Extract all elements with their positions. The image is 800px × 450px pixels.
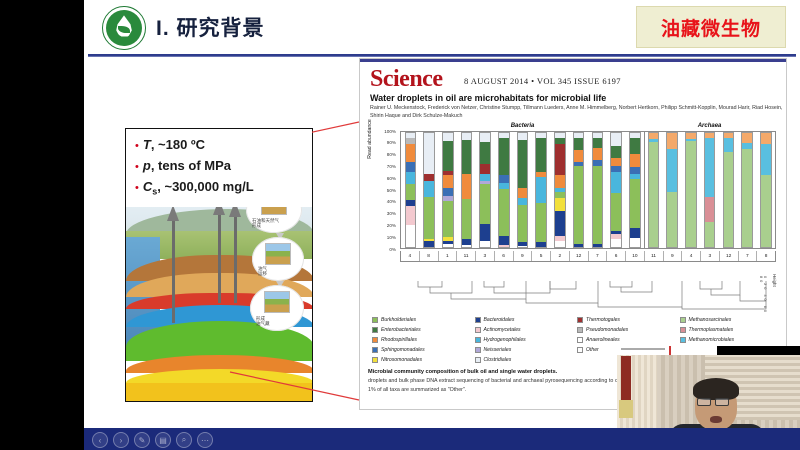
bar-segment: [742, 133, 752, 143]
legend-label: Anaerolineales: [586, 337, 620, 343]
bar-segment: [667, 149, 677, 192]
bar-segment: [649, 142, 659, 247]
next-slide-button[interactable]: ›: [113, 432, 129, 448]
y-tick-label: 100%: [374, 129, 396, 134]
process-bubble-accumulation: 形成油气藏: [250, 285, 304, 331]
legend-label: Thermotogales: [586, 317, 620, 323]
legend-swatch: [475, 347, 481, 353]
bar-segment: [536, 138, 546, 172]
bar-segment: [705, 197, 715, 222]
legend-swatch: [577, 347, 583, 353]
bar-segment: [443, 141, 453, 171]
dendrogram-svg: [400, 277, 796, 311]
legend-label: Enterobacteriales: [381, 327, 421, 333]
bar-segment: [406, 184, 416, 200]
bar-segment: [443, 175, 453, 188]
bar-column: [700, 132, 719, 248]
legend-label: Thermoplasmatales: [689, 327, 734, 333]
bar-segment: [593, 138, 603, 148]
bar-segment: [724, 138, 734, 153]
reservoir-figure-panel: • T, ~180 ºC • p, tens of MPa • Cs, ~300…: [125, 128, 313, 402]
bar-segment: [518, 133, 528, 140]
bar-segment: [518, 205, 528, 243]
bar-segment: [630, 179, 640, 228]
x-tick-label: 8: [420, 251, 439, 261]
legend-item: Bacteroidales: [475, 315, 574, 325]
bar-column: [438, 132, 457, 248]
letterbox-left: [0, 0, 84, 450]
legend-label: Bacteroidales: [484, 317, 515, 323]
bar-column: [420, 132, 439, 248]
bar-segment: [574, 138, 584, 151]
x-tick-label: 3: [476, 251, 495, 261]
paper-authors: Rainer U. Meckenstock, Frederick von Net…: [370, 105, 784, 121]
bullet-dot-icon: •: [135, 162, 139, 173]
y-tick-label: 30%: [374, 211, 396, 216]
y-tick-label: 40%: [374, 199, 396, 204]
bar-segment: [630, 167, 640, 174]
bar-column: [644, 132, 663, 248]
bar-column: [495, 132, 514, 248]
y-tick-label: 10%: [374, 235, 396, 240]
bar-segment: [630, 138, 640, 154]
x-tick-label: 3: [701, 251, 720, 261]
x-tick-label: 12: [570, 251, 589, 261]
bar-segment: [406, 225, 416, 247]
bar-segment: [574, 150, 584, 161]
bar-segment: [536, 242, 546, 247]
bar-segment: [761, 133, 771, 144]
bar-segment: [406, 172, 416, 185]
geology-cross-section-image: 石油和天然气形成 油气运移 形成油气藏: [126, 185, 313, 402]
bar-segment: [406, 206, 416, 225]
x-tick-label: 6: [495, 251, 514, 261]
paper-title: Water droplets in oil are microhabitats …: [370, 93, 780, 103]
bar-segment: [480, 174, 490, 181]
legend-label: Clostridiales: [484, 357, 512, 363]
slide-menu-button[interactable]: ▤: [155, 432, 171, 448]
bar-segment: [705, 138, 715, 197]
science-logo: Science: [370, 66, 442, 93]
bar-segment: [593, 244, 603, 247]
x-tick-label: 6: [607, 251, 626, 261]
legend-swatch: [577, 337, 583, 343]
bar-segment: [555, 198, 565, 211]
paper-top-rule: [360, 59, 786, 62]
bar-segment: [574, 166, 584, 244]
x-tick-label: 9: [664, 251, 683, 261]
legend-item: Enterobacteriales: [372, 325, 471, 335]
list-item: • Cs, ~300,000 mg/L: [135, 179, 308, 197]
legend-label: Sphingomonadales: [381, 347, 425, 353]
bar-segment: [480, 241, 490, 247]
legend-item: Clostridiales: [475, 355, 574, 365]
x-tick-label: 11: [645, 251, 664, 261]
institute-logo-icon: [102, 6, 146, 50]
bar-column: [457, 132, 476, 248]
bar-segment: [518, 140, 528, 188]
issue-line: 8 AUGUST 2014 • VOL 345 ISSUE 6197: [464, 76, 621, 86]
legend-item: Nitrosomonadales: [372, 355, 471, 365]
legend-item: Neisseriales: [475, 345, 574, 355]
legend-label: Rhodospirillales: [381, 337, 417, 343]
community-composition-chart: Read abundance 0%10%20%30%40%50%60%70%80…: [368, 125, 780, 275]
legend-swatch: [372, 347, 378, 353]
topic-badge: 油藏微生物: [636, 6, 786, 48]
legend-swatch: [475, 357, 481, 363]
bar-segment: [630, 154, 640, 168]
bar-segment: [593, 148, 603, 161]
legend-swatch: [577, 327, 583, 333]
x-tick-label: 7: [589, 251, 608, 261]
x-tick-label: 1: [439, 251, 458, 261]
legend-swatch: [475, 337, 481, 343]
bar-segment: [611, 239, 621, 247]
x-tick-label: 8: [757, 251, 775, 261]
bar-segment: [499, 245, 509, 247]
bar-segment: [424, 133, 434, 174]
bar-segment: [480, 224, 490, 241]
x-tick-label: 11: [457, 251, 476, 261]
stacked-bars: [401, 132, 775, 248]
legend-label: Methanomicrobiales: [689, 337, 735, 343]
bar-segment: [424, 197, 434, 239]
condition-bullet-list: • T, ~180 ºC • p, tens of MPa • Cs, ~300…: [126, 129, 313, 207]
bar-segment: [443, 133, 453, 141]
slide-header: I. 研究背景 油藏微生物: [84, 0, 800, 56]
bar-segment: [555, 211, 565, 236]
legend-swatch: [475, 327, 481, 333]
legend-swatch: [680, 317, 686, 323]
legend-label: Burkholderiales: [381, 317, 416, 323]
bar-segment: [686, 141, 696, 247]
bar-segment: [462, 140, 472, 174]
legend-label: Actinomycetales: [484, 327, 521, 333]
legend-item: Sphingomonadales: [372, 345, 471, 355]
list-item: • p, tens of MPa: [135, 158, 308, 173]
legend-label: Nitrosomonadales: [381, 357, 422, 363]
bar-segment: [536, 177, 546, 202]
bar-segment: [593, 166, 603, 244]
height-ticks: 0 20 40 60 80: [759, 276, 767, 314]
legend-swatch: [475, 317, 481, 323]
header-divider: [88, 54, 796, 57]
process-bubble-migration: 油气运移: [252, 237, 304, 281]
bar-segment: [555, 241, 565, 247]
legend-item: Methanosarcinales: [680, 315, 779, 325]
bar-segment: [499, 236, 509, 245]
y-tick-label: 60%: [374, 176, 396, 181]
legend-item: Thermoplasmatales: [680, 325, 779, 335]
y-tick-label: 90%: [374, 140, 396, 145]
bar-segment: [499, 175, 509, 183]
legend-label: Hydrogenophilales: [484, 337, 526, 343]
bar-segment: [667, 133, 677, 149]
legend-swatch: [680, 327, 686, 333]
bar-column: [401, 132, 420, 248]
x-tick-label: 10: [626, 251, 645, 261]
bar-segment: [555, 138, 565, 145]
bar-segment: [462, 199, 472, 239]
bar-column: [476, 132, 495, 248]
bar-segment: [443, 244, 453, 247]
bar-segment: [443, 188, 453, 196]
pen-button[interactable]: ✎: [134, 432, 150, 448]
bar-segment: [761, 144, 771, 175]
bar-column: [682, 132, 701, 248]
bar-segment: [480, 184, 490, 224]
page-title: I. 研究背景: [156, 12, 265, 42]
bar-segment: [555, 144, 565, 175]
legend-item: Hydrogenophilales: [475, 335, 574, 345]
x-axis-labels: 4811136952127610119431278: [400, 251, 776, 262]
bar-segment: [480, 133, 490, 142]
screen: I. 研究背景 油藏微生物 • T, ~180 ºC • p, tens of …: [0, 0, 800, 450]
bar-segment: [574, 244, 584, 247]
legend-label: Methanosarcinales: [689, 317, 732, 323]
bar-segment: [724, 152, 734, 247]
bar-segment: [611, 146, 621, 159]
bar-segment: [667, 192, 677, 247]
bar-segment: [499, 138, 509, 176]
x-tick-label: 4: [401, 251, 420, 261]
x-tick-label: 4: [682, 251, 701, 261]
bar-segment: [611, 133, 621, 146]
legend-swatch: [372, 317, 378, 323]
bullet-dot-icon: •: [135, 183, 139, 194]
legend-label: Pseudomonadales: [586, 327, 628, 333]
bar-segment: [611, 158, 621, 166]
legend-swatch: [577, 317, 583, 323]
legend-item: Anaerolineales: [577, 335, 676, 345]
zoom-button[interactable]: ⌕: [176, 432, 192, 448]
bar-segment: [462, 133, 472, 140]
bar-column: [569, 132, 588, 248]
bar-column: [513, 132, 532, 248]
bar-segment: [406, 162, 416, 172]
bar-segment: [630, 238, 640, 247]
bar-column: [551, 132, 570, 248]
group-label-bacteria: Bacteria: [511, 123, 535, 129]
height-label: Height: [772, 274, 777, 287]
legend-item: Methanomicrobiales: [680, 335, 779, 345]
legend-swatch: [372, 337, 378, 343]
legend-swatch: [680, 337, 686, 343]
plot-area: Bacteria Archaea: [400, 131, 776, 249]
bar-column: [625, 132, 644, 248]
legend-label: Other: [586, 347, 599, 353]
bar-segment: [518, 198, 528, 205]
legend-swatch: [372, 357, 378, 363]
bar-segment: [462, 245, 472, 247]
bullet-text: T, ~180 ºC: [143, 137, 205, 152]
bar-segment: [518, 246, 528, 247]
group-label-archaea: Archaea: [698, 123, 722, 129]
bar-segment: [518, 188, 528, 198]
bar-column: [588, 132, 607, 248]
bullet-text: p, tens of MPa: [143, 158, 231, 173]
dendrogram: [400, 277, 796, 311]
bar-segment: [611, 193, 621, 231]
bar-segment: [630, 228, 640, 238]
list-item: • T, ~180 ºC: [135, 137, 308, 152]
legend-label: Neisseriales: [484, 347, 512, 353]
more-options-button[interactable]: ⋯: [197, 432, 213, 448]
presentation-controls: ‹›✎▤⌕⋯: [92, 432, 213, 448]
bar-segment: [424, 241, 434, 247]
height-scale: Height 0 20 40 60 80: [759, 274, 783, 314]
bar-column: [756, 132, 775, 248]
y-tick-label: 70%: [374, 164, 396, 169]
bar-segment: [611, 172, 621, 194]
bar-segment: [742, 149, 752, 247]
legend-item: Thermotogales: [577, 315, 676, 325]
bar-column: [738, 132, 757, 248]
x-tick-label: 7: [739, 251, 758, 261]
bar-segment: [480, 142, 490, 164]
bar-segment: [480, 164, 490, 174]
legend-item: Actinomycetales: [475, 325, 574, 335]
bar-column: [607, 132, 626, 248]
y-tick-label: 50%: [374, 188, 396, 193]
bar-segment: [406, 144, 416, 161]
x-tick-label: 12: [720, 251, 739, 261]
y-tick-label: 80%: [374, 152, 396, 157]
bar-segment: [462, 174, 472, 199]
y-axis-label: Read abundance: [367, 109, 373, 169]
bar-column: [532, 132, 551, 248]
y-tick-label: 0%: [374, 247, 396, 252]
x-tick-label: 5: [532, 251, 551, 261]
x-tick-label: 2: [551, 251, 570, 261]
bar-segment: [406, 138, 416, 145]
prev-slide-button[interactable]: ‹: [92, 432, 108, 448]
legend-item: Burkholderiales: [372, 315, 471, 325]
bullet-text: Cs, ~300,000 mg/L: [143, 179, 254, 197]
bar-segment: [555, 175, 565, 188]
legend-item: Pseudomonadales: [577, 325, 676, 335]
bar-segment: [443, 201, 453, 236]
bar-column: [719, 132, 738, 248]
bar-segment: [536, 203, 546, 243]
y-tick-label: 20%: [374, 223, 396, 228]
bullet-dot-icon: •: [135, 141, 139, 152]
legend-swatch: [372, 327, 378, 333]
legend-item: Rhodospirillales: [372, 335, 471, 345]
bar-segment: [424, 181, 434, 197]
bar-segment: [761, 175, 771, 247]
bar-segment: [499, 189, 509, 236]
bar-segment: [705, 222, 715, 247]
x-tick-label: 9: [514, 251, 533, 261]
bar-column: [663, 132, 682, 248]
bar-segment: [424, 174, 434, 181]
